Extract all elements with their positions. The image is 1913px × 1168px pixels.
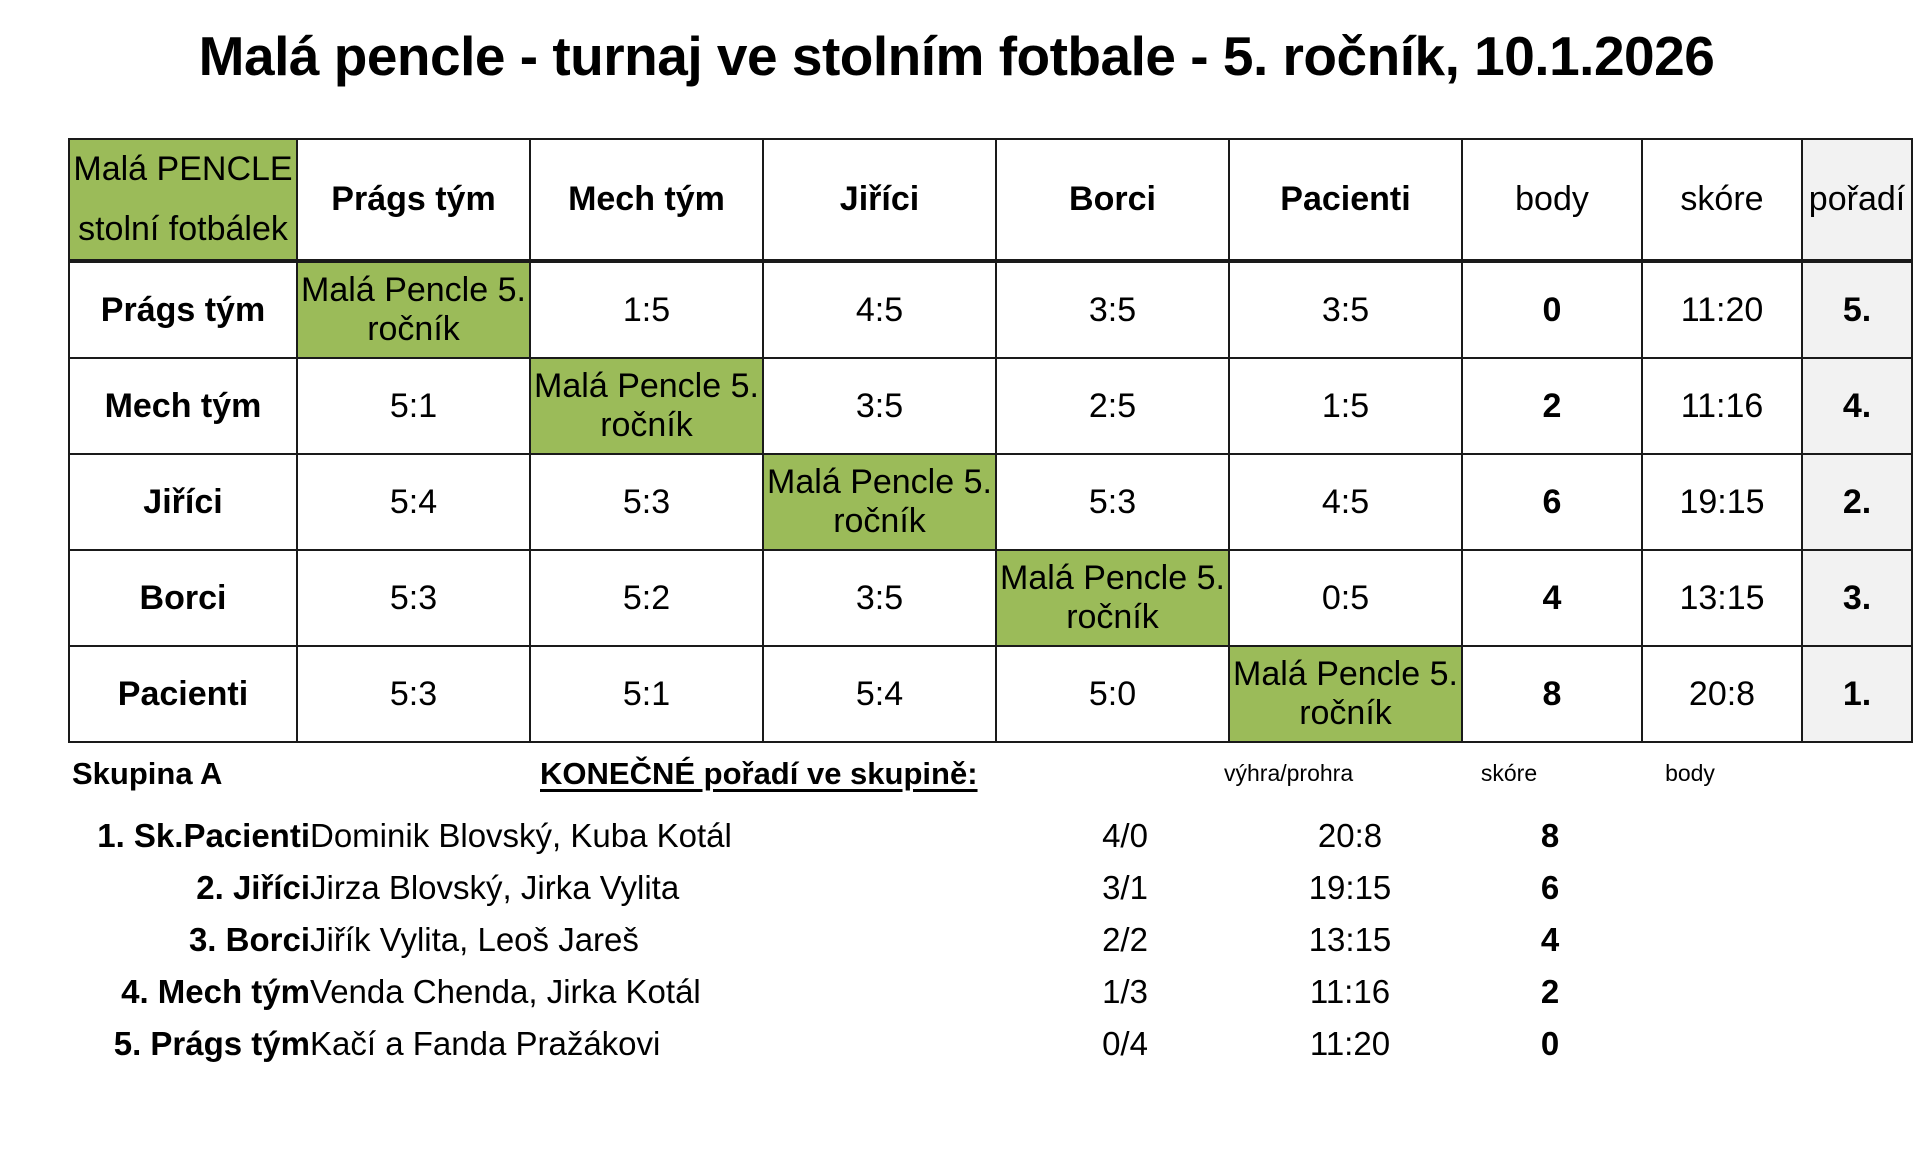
standings-spacer [1640,862,1913,914]
list-item: 2. Jiříci Jirza Blovský, Jirka Vylita 3/… [0,862,1913,914]
standings-rank: 1. Sk.Pacienti [0,810,310,862]
matrix-score-cell: 5:3 [996,454,1229,550]
table-row: Mech tým 5:1 Malá Pencle 5. ročník 3:5 2… [69,358,1912,454]
matrix-score-cell: 5:3 [297,550,530,646]
matrix-poradi-value: 4. [1802,358,1912,454]
matrix-score-cell: 3:5 [1229,261,1462,358]
matrix-skore-value: 11:20 [1642,261,1802,358]
standings-rank: 2. Jiříci [0,862,310,914]
matrix-score-cell: 5:4 [297,454,530,550]
matrix-row-header-jirici: Jiříci [69,454,297,550]
matrix-body-value: 0 [1462,261,1642,358]
matrix-row-header-mech-tym: Mech tým [69,358,297,454]
table-row: Pacienti 5:3 5:1 5:4 5:0 Malá Pencle 5. … [69,646,1912,742]
standings-col-header-win-loss: výhra/prohra [1224,760,1344,787]
standings-body: 8 [1460,810,1640,862]
standings-rank: 5. Prágs tým [0,1018,310,1070]
matrix-diagonal-cell: Malá Pencle 5. ročník [996,550,1229,646]
standings-spacer [1640,810,1913,862]
standings-table: 1. Sk.Pacienti Dominik Blovský, Kuba Kot… [0,810,1913,1070]
matrix-diagonal-cell: Malá Pencle 5. ročník [1229,646,1462,742]
results-matrix-container: Malá PENCLE stolní fotbálek Prágs tým Me… [68,138,1848,743]
matrix-score-cell: 5:0 [996,646,1229,742]
list-item: 5. Prágs tým Kačí a Fanda Pražákovi 0/4 … [0,1018,1913,1070]
matrix-score-cell: 1:5 [530,261,763,358]
list-item: 3. Borci Jiřík Vylita, Leoš Jareš 2/2 13… [0,914,1913,966]
matrix-col-header-poradi: pořadí [1802,139,1912,261]
matrix-score-cell: 0:5 [1229,550,1462,646]
matrix-poradi-value: 3. [1802,550,1912,646]
standings-spacer [1640,966,1913,1018]
matrix-skore-value: 11:16 [1642,358,1802,454]
standings-body: 2 [1460,966,1640,1018]
results-matrix-table: Malá PENCLE stolní fotbálek Prágs tým Me… [68,138,1913,743]
matrix-score-cell: 5:3 [530,454,763,550]
matrix-col-header-skore: skóre [1642,139,1802,261]
final-order-heading: KONEČNÉ pořadí ve skupině: [540,756,978,792]
matrix-col-header-mech-tym: Mech tým [530,139,763,261]
matrix-score-cell: 5:1 [297,358,530,454]
matrix-score-cell: 5:2 [530,550,763,646]
standings-win-loss: 2/2 [1010,914,1240,966]
final-standings-section: Skupina A KONEČNÉ pořadí ve skupině: výh… [0,742,1913,1162]
matrix-col-header-prags-tym: Prágs tým [297,139,530,261]
matrix-skore-value: 20:8 [1642,646,1802,742]
standings-skore: 11:16 [1240,966,1460,1018]
standings-players: Dominik Blovský, Kuba Kotál [310,810,1010,862]
standings-win-loss: 4/0 [1010,810,1240,862]
table-row: Jiříci 5:4 5:3 Malá Pencle 5. ročník 5:3… [69,454,1912,550]
standings-win-loss: 3/1 [1010,862,1240,914]
standings-skore: 11:20 [1240,1018,1460,1070]
matrix-row-header-borci: Borci [69,550,297,646]
list-item: 1. Sk.Pacienti Dominik Blovský, Kuba Kot… [0,810,1913,862]
matrix-col-header-body: body [1462,139,1642,261]
table-row: Borci 5:3 5:2 3:5 Malá Pencle 5. ročník … [69,550,1912,646]
standings-rank: 4. Mech tým [0,966,310,1018]
matrix-col-header-pacienti: Pacienti [1229,139,1462,261]
standings-body: 0 [1460,1018,1640,1070]
standings-skore: 20:8 [1240,810,1460,862]
page-title: Malá pencle - turnaj ve stolním fotbale … [0,24,1913,88]
group-label: Skupina A [72,756,222,792]
matrix-score-cell: 5:3 [297,646,530,742]
matrix-score-cell: 4:5 [1229,454,1462,550]
standings-skore: 19:15 [1240,862,1460,914]
matrix-body-value: 8 [1462,646,1642,742]
matrix-score-cell: 3:5 [763,550,996,646]
standings-skore: 13:15 [1240,914,1460,966]
matrix-body-value: 4 [1462,550,1642,646]
standings-body: 6 [1460,862,1640,914]
matrix-score-cell: 4:5 [763,261,996,358]
matrix-col-header-borci: Borci [996,139,1229,261]
standings-spacer [1640,1018,1913,1070]
corner-line-2: stolní fotbálek [70,200,296,260]
matrix-score-cell: 5:4 [763,646,996,742]
matrix-score-cell: 3:5 [763,358,996,454]
matrix-score-cell: 2:5 [996,358,1229,454]
matrix-diagonal-cell: Malá Pencle 5. ročník [530,358,763,454]
matrix-diagonal-cell: Malá Pencle 5. ročník [763,454,996,550]
standings-players: Venda Chenda, Jirka Kotál [310,966,1010,1018]
standings-win-loss: 1/3 [1010,966,1240,1018]
matrix-poradi-value: 2. [1802,454,1912,550]
corner-line-1: Malá PENCLE [70,140,296,200]
matrix-header-row: Malá PENCLE stolní fotbálek Prágs tým Me… [69,139,1912,261]
matrix-corner-cell: Malá PENCLE stolní fotbálek [69,139,297,261]
matrix-diagonal-cell: Malá Pencle 5. ročník [297,261,530,358]
matrix-col-header-jirici: Jiříci [763,139,996,261]
matrix-poradi-value: 1. [1802,646,1912,742]
matrix-skore-value: 13:15 [1642,550,1802,646]
standings-players: Kačí a Fanda Pražákovi [310,1018,1010,1070]
standings-col-header-body: body [1640,760,1740,787]
standings-spacer [1640,914,1913,966]
matrix-body-value: 6 [1462,454,1642,550]
matrix-body-value: 2 [1462,358,1642,454]
standings-players: Jiřík Vylita, Leoš Jareš [310,914,1010,966]
standings-col-header-skore: skóre [1454,760,1564,787]
matrix-score-cell: 1:5 [1229,358,1462,454]
list-item: 4. Mech tým Venda Chenda, Jirka Kotál 1/… [0,966,1913,1018]
matrix-score-cell: 5:1 [530,646,763,742]
matrix-score-cell: 3:5 [996,261,1229,358]
table-row: Prágs tým Malá Pencle 5. ročník 1:5 4:5 … [69,261,1912,358]
matrix-poradi-value: 5. [1802,261,1912,358]
matrix-row-header-prags-tym: Prágs tým [69,261,297,358]
matrix-skore-value: 19:15 [1642,454,1802,550]
standings-players: Jirza Blovský, Jirka Vylita [310,862,1010,914]
standings-win-loss: 0/4 [1010,1018,1240,1070]
standings-body: 4 [1460,914,1640,966]
matrix-row-header-pacienti: Pacienti [69,646,297,742]
standings-rank: 3. Borci [0,914,310,966]
